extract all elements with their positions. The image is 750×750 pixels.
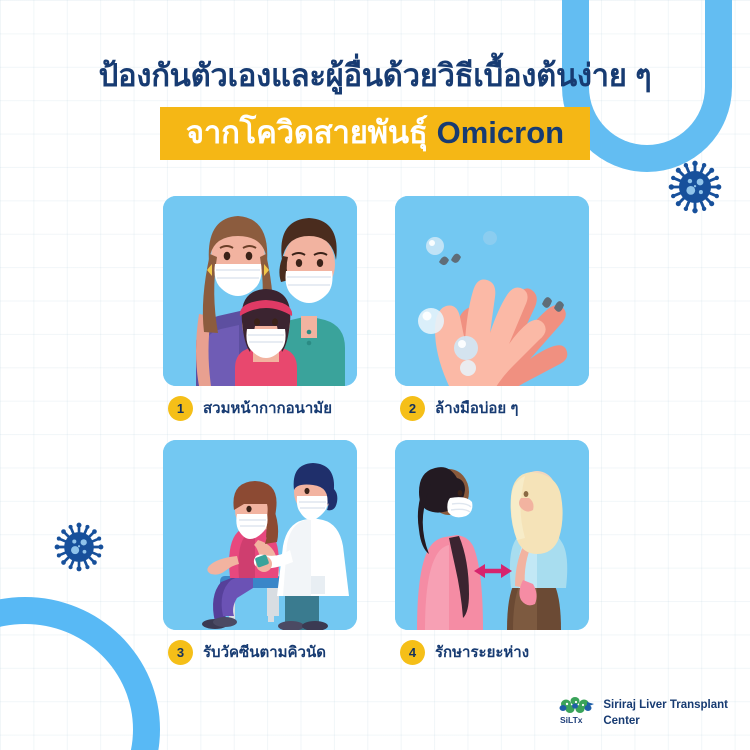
- steps-grid: 1 สวมหน้ากากอนามัย: [163, 196, 589, 674]
- social-distancing-illustration: [395, 440, 589, 630]
- step-illustration-panel: [163, 196, 357, 386]
- step-caption: 1 สวมหน้ากากอนามัย: [163, 386, 357, 430]
- svg-text:SiLTx: SiLTx: [560, 715, 583, 725]
- infographic-poster: ป้องกันตัวเองและผู้อื่นด้วยวิธีเบื้องต้น…: [0, 0, 750, 750]
- footer-logo: SiLTx Siriraj Liver Transplant Center: [557, 695, 728, 732]
- step-number-badge: 2: [400, 396, 425, 421]
- headline-band-variant-name: Omicron: [437, 115, 564, 150]
- step-item: 1 สวมหน้ากากอนามัย: [163, 196, 357, 430]
- footer-org-line-1: Siriraj Liver Transplant: [603, 699, 728, 711]
- footer-org-line-2: Center: [603, 715, 639, 727]
- step-caption: 2 ล้างมือบ่อย ๆ: [395, 386, 589, 430]
- arc-bottom-left-decoration: [0, 597, 160, 750]
- headline-block: ป้องกันตัวเองและผู้อื่นด้วยวิธีเบื้องต้น…: [0, 57, 750, 160]
- step-caption: 3 รับวัคซีนตามคิวนัด: [163, 630, 357, 674]
- coronavirus-icon: [54, 522, 104, 577]
- washing-hands-illustration: [395, 196, 589, 386]
- step-item: 4 รักษาระยะห่าง: [395, 440, 589, 674]
- family-wearing-masks-illustration: [163, 196, 357, 386]
- headline-highlight-band: จากโควิดสายพันธุ์Omicron: [160, 107, 590, 160]
- step-caption: 4 รักษาระยะห่าง: [395, 630, 589, 674]
- step-label: สวมหน้ากากอนามัย: [203, 396, 332, 420]
- siltx-logo-icon: SiLTx: [557, 695, 595, 732]
- step-label: รักษาระยะห่าง: [435, 640, 529, 664]
- step-illustration-panel: [163, 440, 357, 630]
- step-number-badge: 4: [400, 640, 425, 665]
- vaccination-illustration: [163, 440, 357, 630]
- headline-line-1: ป้องกันตัวเองและผู้อื่นด้วยวิธีเบื้องต้น…: [0, 57, 750, 96]
- footer-org-name: Siriraj Liver Transplant Center: [603, 698, 728, 729]
- headline-band-thai: จากโควิดสายพันธุ์: [186, 115, 428, 150]
- step-label: รับวัคซีนตามคิวนัด: [203, 640, 326, 664]
- step-number-badge: 1: [168, 396, 193, 421]
- step-number-badge: 3: [168, 640, 193, 665]
- step-item: 2 ล้างมือบ่อย ๆ: [395, 196, 589, 430]
- step-illustration-panel: [395, 440, 589, 630]
- step-item: 3 รับวัคซีนตามคิวนัด: [163, 440, 357, 674]
- step-illustration-panel: [395, 196, 589, 386]
- step-label: ล้างมือบ่อย ๆ: [435, 396, 518, 420]
- coronavirus-icon: [668, 160, 722, 219]
